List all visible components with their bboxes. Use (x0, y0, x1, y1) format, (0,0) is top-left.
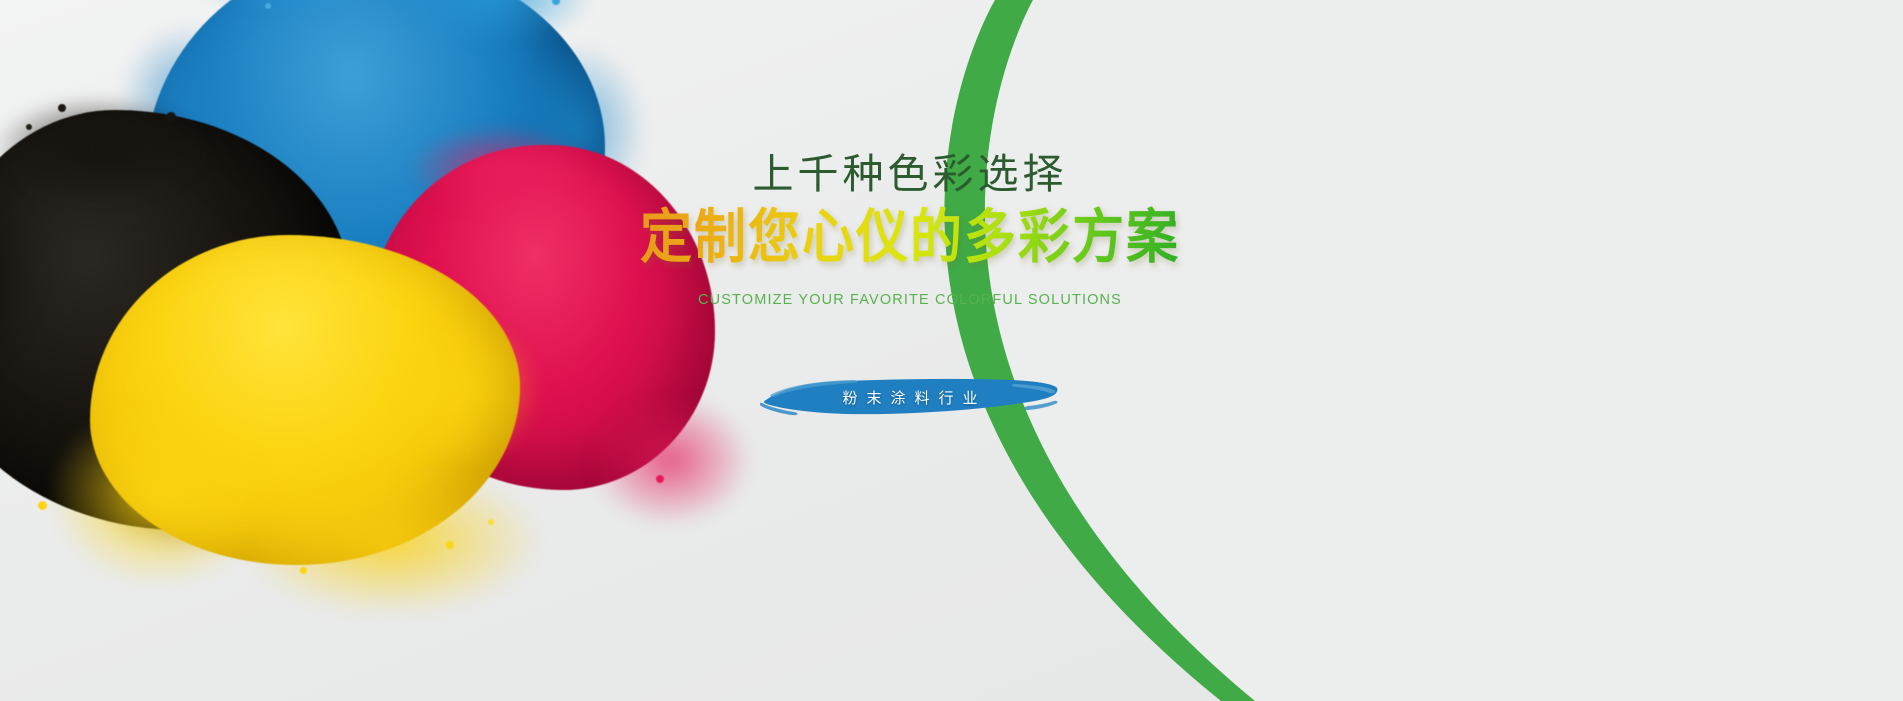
subtitle-english: CUSTOMIZE YOUR FAVORITE COLORFUL SOLUTIO… (640, 292, 1180, 308)
spray-gun-upper: Encore® (983, 18, 1403, 128)
powder-speck (446, 541, 454, 549)
spray-plume (1464, 392, 1764, 542)
pile-core (90, 235, 520, 565)
powder-speck (488, 519, 494, 525)
spray-gun-lower (1168, 378, 1588, 488)
headline-secondary: 定制您心仪的多彩方案 (640, 207, 1180, 271)
spray-plume (1331, 36, 1651, 186)
powder-speck (166, 112, 176, 122)
powder-speck (38, 501, 47, 510)
rack-hole (1599, 588, 1624, 614)
powder-speck (300, 567, 307, 574)
powder-speck (58, 104, 66, 112)
powder-speck (26, 124, 32, 130)
rack-hole (1765, 386, 1789, 411)
industry-badge: 粉末涂料行业 (760, 370, 1060, 426)
promo-banner: Encore® (0, 0, 1903, 701)
powder-speck (552, 0, 560, 5)
rack-hole (1598, 28, 1620, 51)
rack-hole (1755, 21, 1777, 44)
rack-hole (1600, 204, 1623, 228)
powder-speck (656, 475, 664, 483)
industry-badge-label: 粉末涂料行业 (760, 387, 1060, 408)
spray-gun-body (981, 20, 1216, 100)
rack-hole (1763, 196, 1786, 220)
powder-speck (265, 3, 271, 9)
banner-copy: 上千种色彩选择 定制您心仪的多彩方案 CUSTOMIZE YOUR FAVORI… (640, 150, 1180, 426)
headline-primary: 上千种色彩选择 (640, 150, 1180, 198)
rack-hole (1438, 211, 1461, 235)
spray-gun-brand-label: Encore® (1092, 48, 1147, 69)
rack-hole (1425, 596, 1450, 622)
yellow-powder-pile (90, 235, 520, 565)
rack-hole (1773, 580, 1798, 606)
